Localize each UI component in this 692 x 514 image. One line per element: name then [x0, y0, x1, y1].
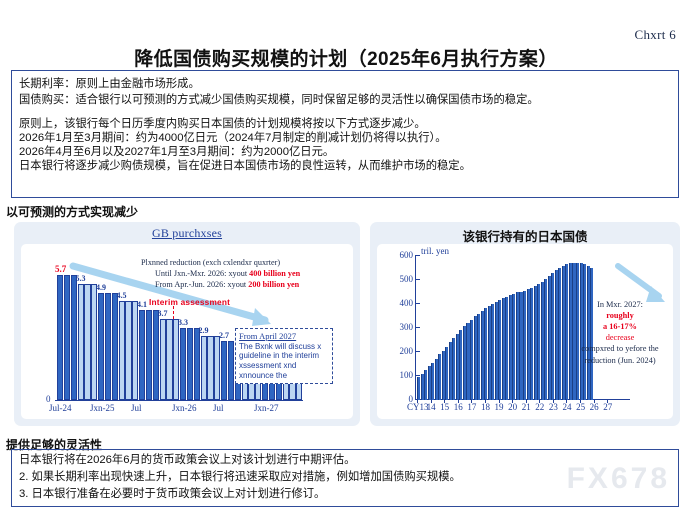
bar-value-label: 2.9 — [199, 326, 209, 335]
policy-line-5: 2026年4月至6月以及2027年1月至3月期间：约为2000亿日元。 — [19, 145, 671, 158]
ann-line-5: compxred to — [581, 344, 623, 353]
ann-line-6: yefore the — [625, 344, 658, 353]
x-tick-mark — [526, 399, 527, 403]
y-tick-label: 600 — [389, 250, 413, 260]
x-tick-label: Jul — [131, 403, 142, 413]
y-tick-label: 200 — [389, 346, 413, 356]
bar — [64, 275, 70, 400]
x-tick-mark — [566, 399, 567, 403]
x-tick-label: 22 — [535, 402, 544, 412]
bar-value-label: 5.7 — [55, 264, 66, 274]
x-tick-label: 21 — [522, 402, 531, 412]
x-tick-label: 23 — [549, 402, 558, 412]
x-tick-label: 17 — [467, 402, 476, 412]
x-tick-label: 26 — [590, 402, 599, 412]
x-tick-label: 16 — [454, 402, 463, 412]
bar-value-label: 4.5 — [117, 291, 127, 300]
policy-line-3: 原则上，该银行每个日历季度内购买日本国债的计划规模将按以下方式逐步减少。 — [19, 115, 671, 130]
bar — [112, 293, 118, 400]
bar-value-label: 4.9 — [96, 283, 106, 292]
y-tick-label: 300 — [389, 322, 413, 332]
left-chart-content: Plxnned reduction (exch cxlendxr quxrter… — [21, 244, 353, 419]
bar-value-label: 3.3 — [178, 318, 188, 327]
x-tick-label: 18 — [481, 402, 490, 412]
bar — [221, 341, 227, 400]
x-tick-mark — [444, 399, 445, 403]
bar — [214, 336, 220, 400]
policy-line-4: 2026年1月至3月期间：约为4000亿日元（2024年7月制定的削减计划仍将得… — [19, 131, 671, 144]
ann-line-4: decrease — [575, 332, 665, 343]
bar — [160, 319, 166, 400]
bar — [132, 301, 138, 400]
left-chart-title: GB purchxses — [14, 226, 360, 241]
y-tick-label: 500 — [389, 274, 413, 284]
bar — [187, 328, 193, 400]
x-tick-label: 25 — [576, 402, 585, 412]
policy-line-1: 长期利率：原则上由金融市场形成。 — [19, 75, 671, 90]
x-tick-label: Jxn-25 — [90, 403, 115, 413]
bar — [201, 336, 207, 400]
x-tick-label: CY13 — [407, 402, 429, 412]
x-tick-mark — [458, 399, 459, 403]
bar — [119, 301, 125, 400]
callout-body: The Bxnk will discuss x guideline in the… — [239, 342, 329, 381]
bar — [125, 301, 131, 400]
left-x-axis-labels: Jul-24Jxn-25JulJxn-26JulJxn-27 — [51, 403, 307, 417]
bar — [146, 310, 152, 400]
bar — [228, 341, 234, 400]
x-tick-mark — [539, 399, 540, 403]
x-tick-mark — [553, 399, 554, 403]
x-tick-label: 14 — [427, 402, 436, 412]
y-tick-label: 100 — [389, 370, 413, 380]
slide-page: Chxrt 6 降低国债购买规模的计划（2025年6月执行方案） 长期利率：原则… — [0, 0, 692, 514]
x-tick-label: Jxn-26 — [172, 403, 197, 413]
policy-box: 长期利率：原则上由金融市场形成。 国债购买：适合银行以可预测的方式减少国债购买规… — [11, 70, 679, 198]
x-tick-label: 19 — [495, 402, 504, 412]
ann-line-3: a 16-17% — [575, 321, 665, 332]
y-tick-label: 400 — [389, 298, 413, 308]
bar — [194, 328, 200, 400]
x-tick-label: Jxn-27 — [254, 403, 279, 413]
bar-value-label: 2.7 — [219, 331, 229, 340]
bar-value-label: 5.3 — [76, 274, 86, 283]
bar-value-label: 3.7 — [158, 309, 168, 318]
policy-line-2: 国债购买：适合银行以可预测的方式减少国债购买规模，同时保留足够的灵活性以确保国债… — [19, 91, 671, 106]
x-tick-label: Jul-24 — [49, 403, 72, 413]
bar — [71, 275, 77, 400]
bar — [57, 275, 63, 400]
right-chart-content: tril. yen 0100200300400500600 CY13141516… — [377, 244, 673, 419]
policy-line-6: 日本银行将逐步减少购债规模，旨在促进日本国债市场的良性运转，从而维护市场的稳定。 — [19, 159, 671, 172]
mar-2027-annotation: In Mxr. 2027: roughly a 16-17% decrease … — [575, 299, 665, 366]
x-tick-label: 24 — [562, 402, 571, 412]
x-tick-label: 27 — [603, 402, 612, 412]
bar — [173, 319, 179, 400]
ann-line-8: (Jun. 2024) — [618, 356, 656, 365]
x-tick-mark — [607, 399, 608, 403]
left-x-axis — [55, 400, 303, 401]
x-tick-label: 15 — [440, 402, 449, 412]
bar — [91, 284, 97, 400]
ann-line-1: In Mxr. 2027: — [597, 300, 643, 309]
right-y-axis-unit: tril. yen — [421, 246, 449, 256]
x-tick-mark — [431, 399, 432, 403]
bar — [78, 284, 84, 400]
right-x-axis-labels: CY131415161718192021222324252627 — [407, 402, 647, 416]
ann-line-2: roughly — [575, 310, 665, 321]
section-label-predictable: 以可预测的方式实现减少 — [6, 203, 138, 220]
bar — [139, 310, 145, 400]
x-tick-mark — [512, 399, 513, 403]
bar — [98, 293, 104, 400]
x-tick-mark — [580, 399, 581, 403]
right-chart-title: 该银行持有的日本国债 — [370, 226, 680, 245]
x-tick-mark — [499, 399, 500, 403]
callout-heading: From April 2027 — [239, 331, 329, 342]
from-april-2027-callout: From April 2027 The Bxnk will discuss x … — [235, 328, 333, 384]
bar — [180, 328, 186, 400]
ann-line-7: reduction — [584, 356, 615, 365]
x-tick-label: Jul — [213, 403, 224, 413]
x-tick-mark — [485, 399, 486, 403]
x-tick-mark — [417, 399, 418, 403]
bar — [166, 319, 172, 400]
bar-value-label: 4.1 — [137, 300, 147, 309]
x-tick-label: 20 — [508, 402, 517, 412]
x-tick-mark — [471, 399, 472, 403]
page-title: 降低国债购买规模的计划（2025年6月执行方案） — [0, 44, 692, 71]
chart-number: Chxrt 6 — [635, 27, 676, 43]
spacer — [19, 108, 671, 115]
x-tick-mark — [594, 399, 595, 403]
watermark: FX678 — [567, 462, 670, 496]
bar — [153, 310, 159, 400]
bar — [84, 284, 90, 400]
bar — [105, 293, 111, 400]
bar — [207, 336, 213, 400]
